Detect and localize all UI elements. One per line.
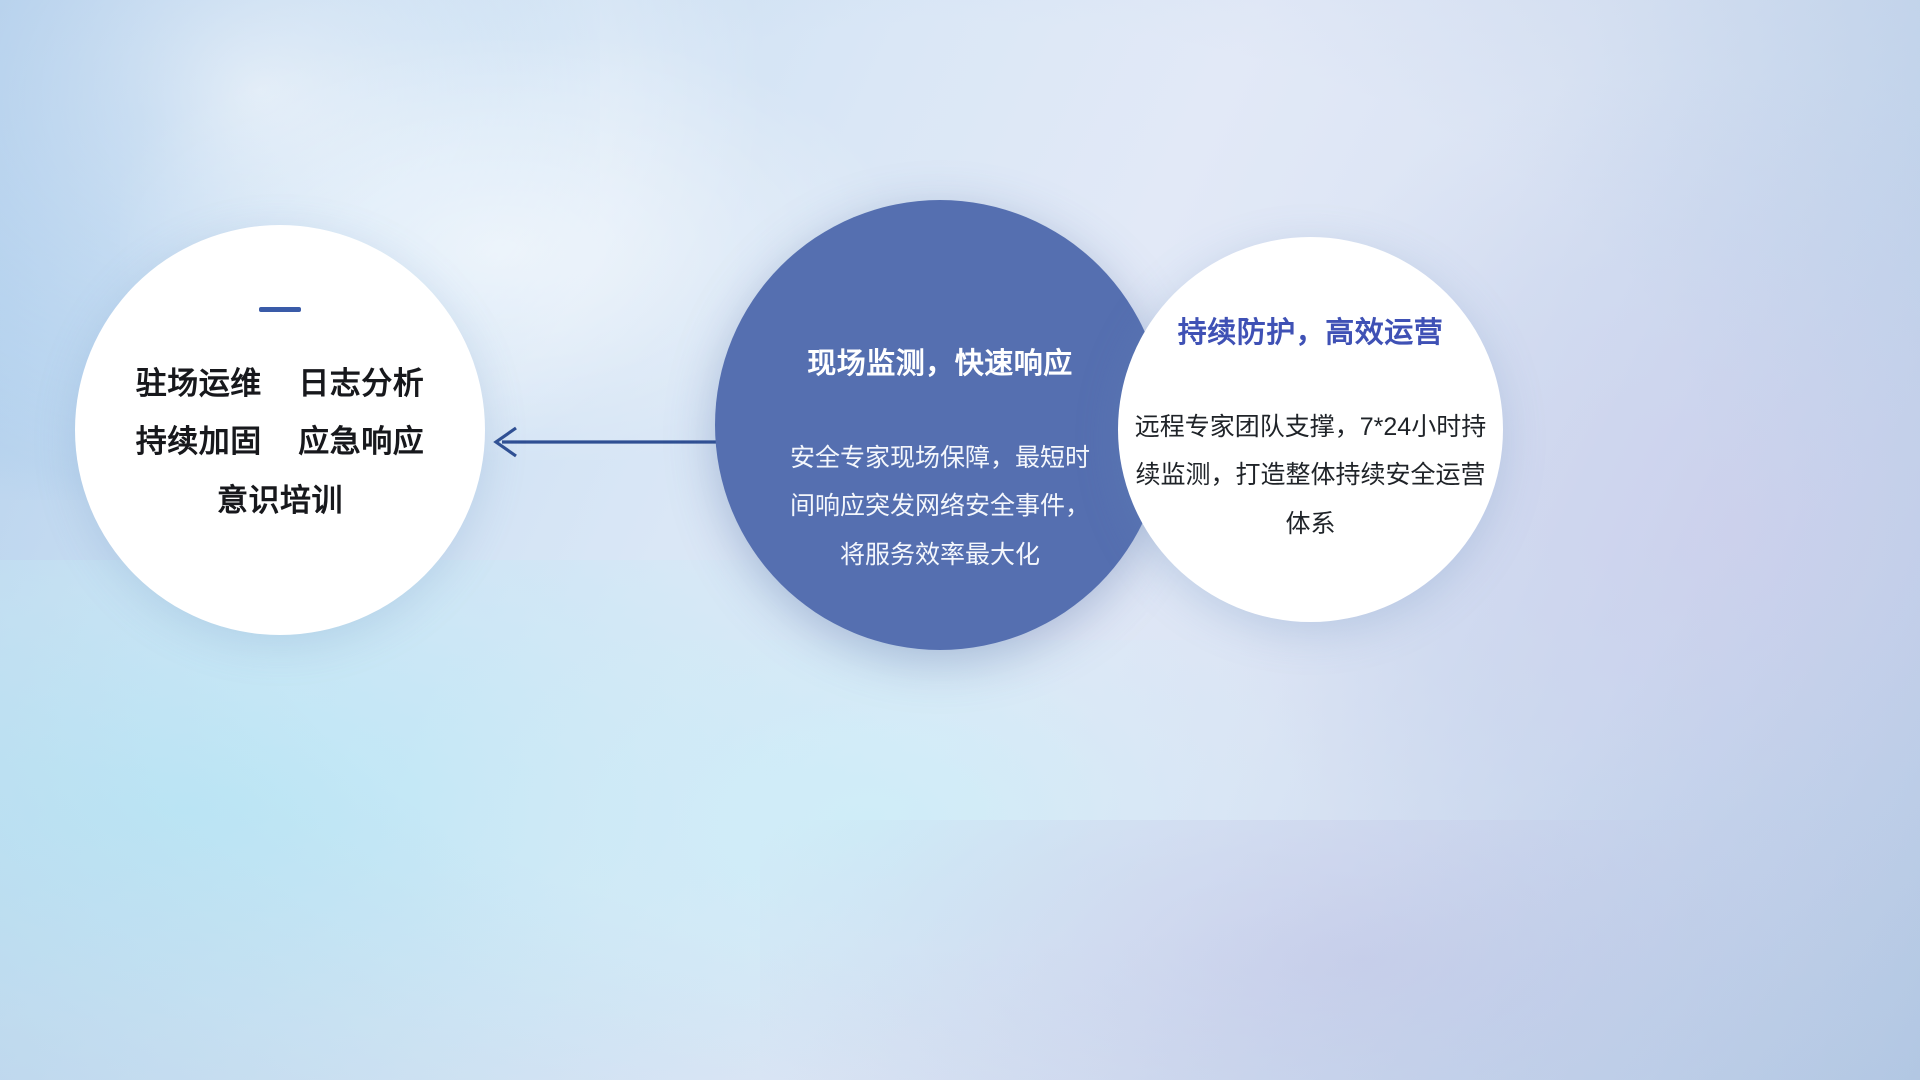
divider-dash — [259, 307, 301, 312]
middle-circle-body: 安全专家现场保障，最短时间响应突发网络安全事件，将服务效率最大化 — [790, 434, 1090, 579]
right-circle-title: 持续防护，高效运营 — [1178, 309, 1444, 351]
middle-circle-content: 现场监测，快速响应 安全专家现场保障，最短时间响应突发网络安全事件，将服务效率最… — [743, 200, 1137, 650]
circle-card-middle[interactable]: 现场监测，快速响应 安全专家现场保障，最短时间响应突发网络安全事件，将服务效率最… — [715, 200, 1165, 650]
right-circle-content: 持续防护，高效运营 远程专家团队支撑，7*24小时持续监测，打造整体持续安全运营… — [1128, 237, 1493, 622]
middle-circle-title: 现场监测，快速响应 — [807, 340, 1073, 382]
keyword-row-2: 持续加固 应急响应 — [75, 413, 485, 471]
keyword-row-3: 意识培训 — [75, 472, 485, 530]
right-circle-body: 远程专家团队支撑，7*24小时持续监测，打造整体持续安全运营体系 — [1135, 403, 1487, 548]
left-circle-keyword-list: 驻场运维 日志分析 持续加固 应急响应 意识培训 — [75, 355, 485, 530]
circle-card-right[interactable]: 持续防护，高效运营 远程专家团队支撑，7*24小时持续监测，打造整体持续安全运营… — [1118, 237, 1503, 622]
keyword-row-1: 驻场运维 日志分析 — [75, 355, 485, 413]
circle-card-left[interactable]: 驻场运维 日志分析 持续加固 应急响应 意识培训 — [75, 225, 485, 635]
slide-canvas: 驻场运维 日志分析 持续加固 应急响应 意识培训 现场监测，快速响应 安全专家现… — [0, 0, 1920, 1080]
left-circle-content: 驻场运维 日志分析 持续加固 应急响应 意识培训 — [75, 299, 485, 530]
